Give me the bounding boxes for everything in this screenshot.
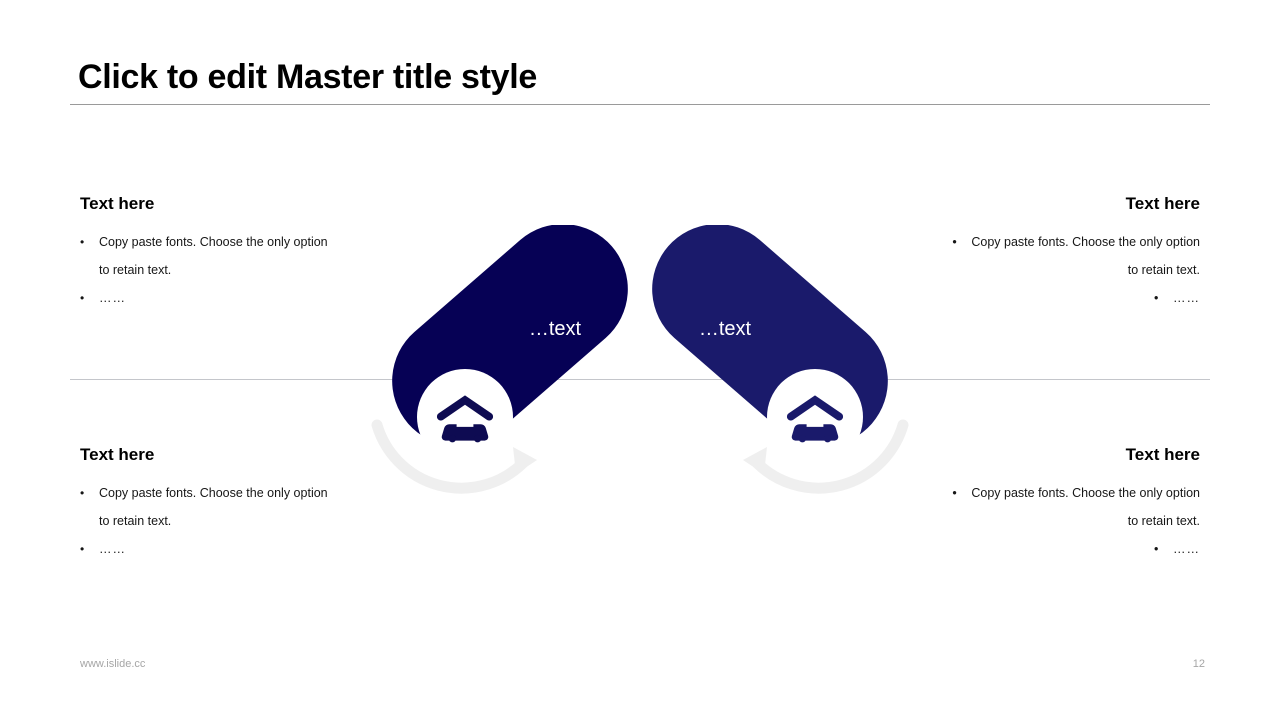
capsule-right-label: …text <box>699 318 752 340</box>
bullet-marker: • <box>1154 535 1173 563</box>
footer-url[interactable]: www.islide.cc <box>80 658 145 670</box>
capsule-left-label: …text <box>529 318 582 340</box>
bullet-marker: • <box>952 228 971 256</box>
bullet-marker: • <box>952 479 971 507</box>
page-title: Click to edit Master title style <box>78 58 537 97</box>
block-heading: Text here <box>870 194 1200 214</box>
bullet-text-line1: Copy paste fonts. Choose the only option <box>971 235 1200 249</box>
block-heading: Text here <box>80 194 410 214</box>
bullet-text-line1: Copy paste fonts. Choose the only option <box>99 486 328 500</box>
title-divider <box>70 104 1210 105</box>
badge-left[interactable] <box>417 369 513 465</box>
bullet-text-ellipsis: …… <box>99 542 126 556</box>
bullet-text-line1: Copy paste fonts. Choose the only option <box>99 235 328 249</box>
list-item: •…… <box>870 535 1200 563</box>
page-number: 12 <box>1175 658 1205 670</box>
bullet-text-line1: Copy paste fonts. Choose the only option <box>971 486 1200 500</box>
bullet-text-ellipsis: …… <box>1173 542 1200 556</box>
bullet-marker: • <box>1154 284 1173 312</box>
capsule-left[interactable]: …text <box>365 225 654 473</box>
bullet-text-ellipsis: …… <box>99 291 126 305</box>
slide: Click to edit Master title style Text he… <box>0 0 1280 720</box>
list-item: …… <box>80 535 410 563</box>
bullet-text-ellipsis: …… <box>1173 291 1200 305</box>
center-diagram: …text <box>355 225 925 515</box>
capsule-right[interactable] <box>625 225 914 473</box>
badge-right[interactable] <box>767 369 863 465</box>
